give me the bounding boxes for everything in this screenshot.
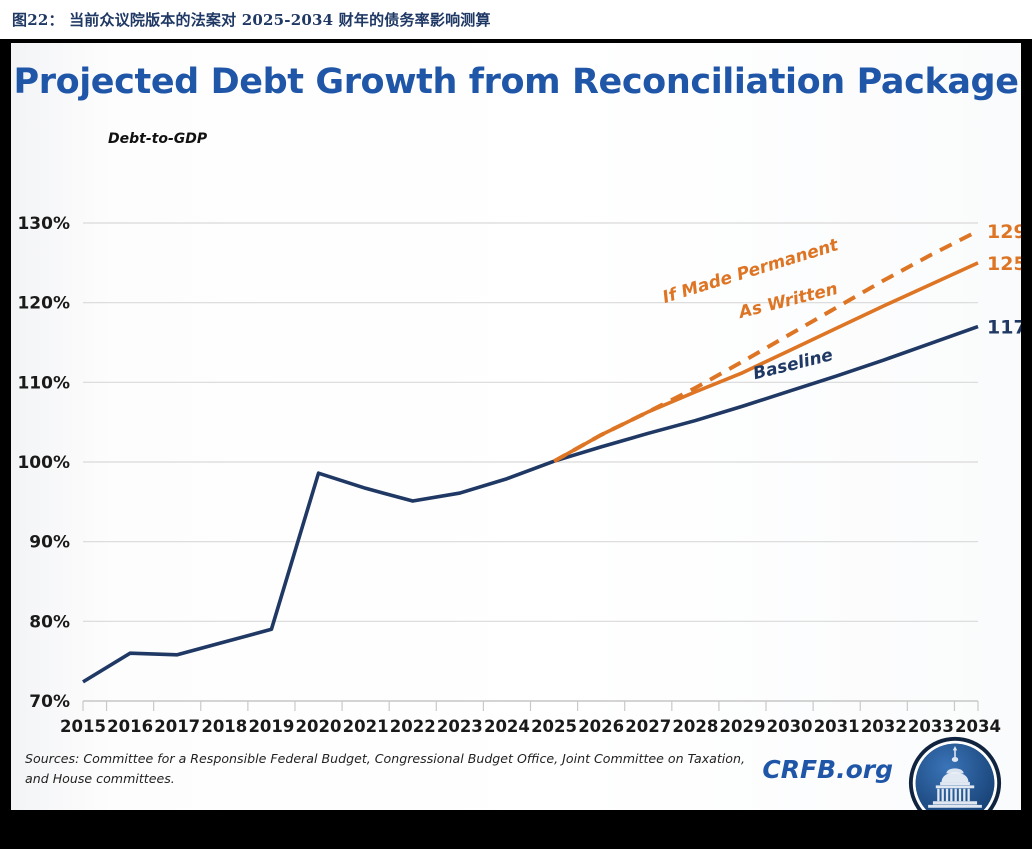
series-inline-labels-group: BaselineAs WrittenIf Made Permanent (660, 235, 841, 384)
series-line (83, 327, 978, 682)
x-axis-tick-label: 2026 (578, 717, 624, 736)
figure-caption-text: 图22： 当前众议院版本的法案对 2025-2034 财年的债务率影响测算 (12, 9, 491, 30)
x-axis-tick-label: 2019 (248, 717, 294, 736)
x-axis-labels-group: 2015201620172018201920202021202220232024… (60, 717, 1001, 736)
slide-page: 图22： 当前众议院版本的法案对 2025-2034 财年的债务率影响测算 Pr… (0, 0, 1032, 849)
endpoint-value-label: 129% (987, 221, 1021, 243)
series-lines-group (83, 231, 978, 682)
y-axis-tick-label: 120% (17, 294, 70, 314)
endpoint-value-label: 117% (987, 317, 1021, 339)
x-axis-tick-label: 2034 (955, 717, 1001, 736)
slide-frame: Projected Debt Growth from Reconciliatio… (0, 39, 1032, 849)
x-axis-tick-label: 2015 (60, 717, 106, 736)
sources-line-1: Sources: Committee for a Responsible Fed… (25, 749, 815, 769)
chart-plot-area: BaselineAs WrittenIf Made Permanent 70%8… (11, 121, 1021, 741)
x-axis-tick-label: 2027 (625, 717, 671, 736)
x-axis-ticks-group (83, 701, 978, 711)
y-axis-tick-label: 100% (17, 453, 70, 473)
x-axis-tick-label: 2030 (767, 717, 813, 736)
x-axis-tick-label: 2016 (107, 717, 153, 736)
series-label: Baseline (751, 345, 835, 384)
capitol-dome-icon[interactable] (907, 735, 1003, 810)
endpoint-value-label: 125% (987, 253, 1021, 275)
x-axis-tick-label: 2018 (201, 717, 247, 736)
line-chart-svg: BaselineAs WrittenIf Made Permanent 70%8… (11, 121, 1021, 741)
x-axis-tick-label: 2031 (814, 717, 860, 736)
y-axis-tick-label: 110% (17, 373, 70, 393)
x-axis-tick-label: 2022 (390, 717, 436, 736)
x-axis-tick-label: 2024 (484, 717, 530, 736)
y-axis-labels-group: 70%80%90%100%110%120%130% (17, 214, 70, 712)
x-axis-tick-label: 2025 (531, 717, 577, 736)
y-axis-tick-label: 80% (29, 612, 70, 632)
debt-to-gdp-note: Debt-to-GDP (108, 131, 208, 147)
y-axis-tick-label: 130% (17, 214, 70, 234)
sources-line-2: and House committees. (25, 769, 815, 789)
gridlines-group (83, 223, 978, 701)
y-axis-tick-label: 70% (29, 692, 70, 712)
x-axis-tick-label: 2017 (154, 717, 200, 736)
chart-title: Projected Debt Growth from Reconciliatio… (11, 61, 1021, 103)
x-axis-tick-label: 2032 (861, 717, 907, 736)
endpoint-labels-group: 117%125%129% (987, 221, 1021, 339)
x-axis-tick-label: 2021 (343, 717, 389, 736)
figure-caption: 图22： 当前众议院版本的法案对 2025-2034 财年的债务率影响测算 (0, 0, 1032, 39)
x-axis-tick-label: 2028 (672, 717, 718, 736)
x-axis-tick-label: 2033 (908, 717, 954, 736)
x-axis-tick-label: 2029 (720, 717, 766, 736)
x-axis-tick-label: 2023 (437, 717, 483, 736)
series-label: As Written (735, 279, 840, 323)
sources-note: Sources: Committee for a Responsible Fed… (25, 749, 815, 789)
crfb-brand-text[interactable]: CRFB.org (762, 755, 893, 784)
x-axis-tick-label: 2020 (296, 717, 342, 736)
y-axis-tick-label: 90% (29, 533, 70, 553)
slide-canvas: Projected Debt Growth from Reconciliatio… (11, 43, 1021, 810)
